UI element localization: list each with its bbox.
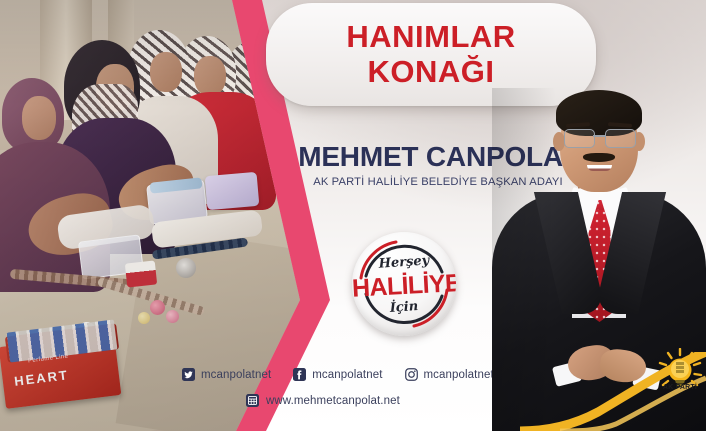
social-links-row: mcanpolatnet mcanpolatnet mcanpolatnet	[182, 368, 494, 381]
social-item-facebook[interactable]: mcanpolatnet	[293, 368, 382, 381]
social-item-instagram[interactable]: mcanpolatnet	[405, 368, 494, 381]
twitter-handle: mcanpolatnet	[201, 369, 271, 381]
website-url: www.mehmetcanpolat.net	[266, 395, 400, 407]
instagram-icon[interactable]	[405, 368, 418, 381]
headline-line-1: HANIMLAR	[346, 20, 515, 55]
ak-parti-label: AK PARTİ	[656, 384, 704, 391]
facebook-icon[interactable]	[293, 368, 306, 381]
facebook-handle: mcanpolatnet	[312, 369, 382, 381]
social-item-twitter[interactable]: mcanpolatnet	[182, 368, 271, 381]
slogan-badge: Herşey HALİLİYE İçin	[352, 232, 456, 336]
website-icon[interactable]	[246, 394, 259, 407]
website-row[interactable]: www.mehmetcanpolat.net	[246, 394, 400, 407]
campaign-banner: Perfume Line HEART HANIMLAR KONAĞI MEHME…	[0, 0, 706, 431]
twitter-icon[interactable]	[182, 368, 195, 381]
lightbulb-icon	[659, 349, 701, 386]
instagram-handle: mcanpolatnet	[424, 369, 494, 381]
headline-line-2: KONAĞI	[368, 55, 495, 90]
